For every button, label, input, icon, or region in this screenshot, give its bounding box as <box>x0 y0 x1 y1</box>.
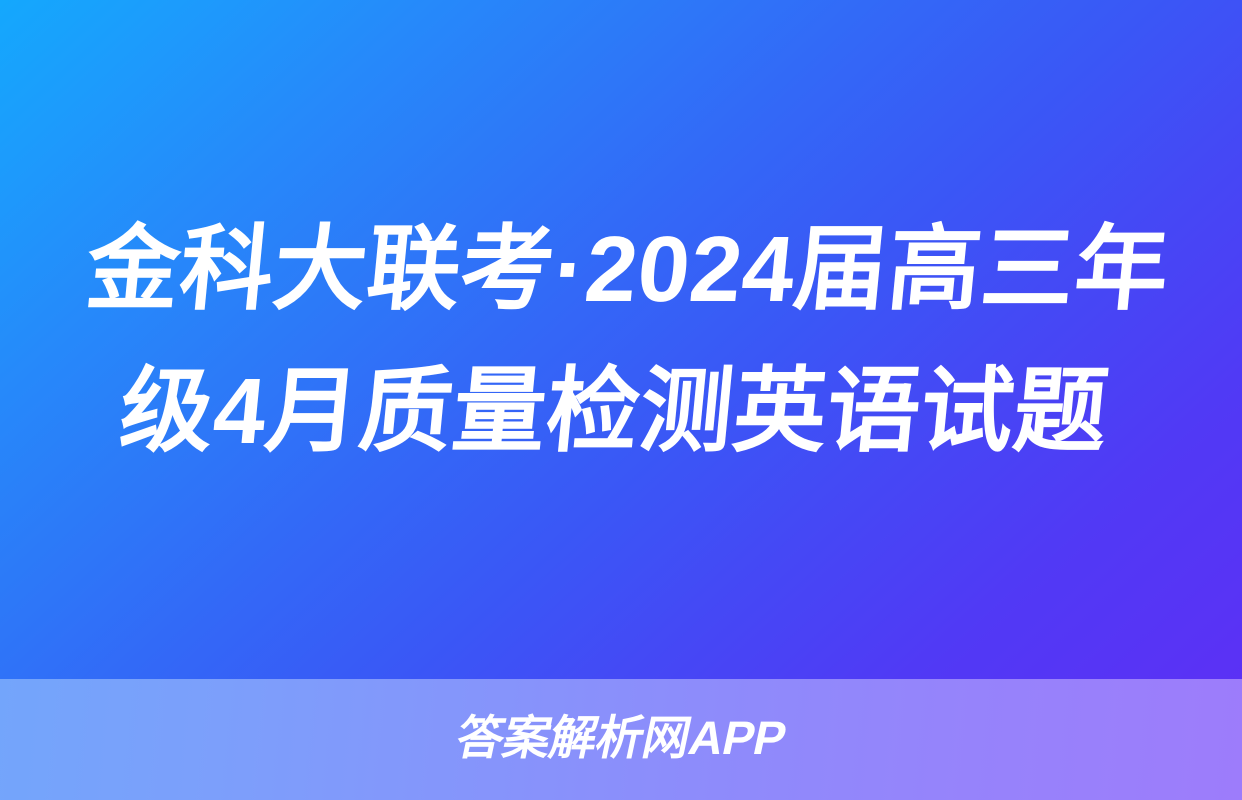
page-title: 金科大联考·2024届高三年级4月质量检测英语试题 <box>64 198 1177 482</box>
watermark-brand-text: 答案解析网APP <box>451 712 791 768</box>
watermark-footer-band: 答案解析网APP <box>0 679 1242 800</box>
exam-paper-cover-poster: 金科大联考·2024届高三年级4月质量检测英语试题 答案解析网APP <box>0 0 1242 800</box>
hero-gradient-banner: 金科大联考·2024届高三年级4月质量检测英语试题 <box>0 0 1242 679</box>
